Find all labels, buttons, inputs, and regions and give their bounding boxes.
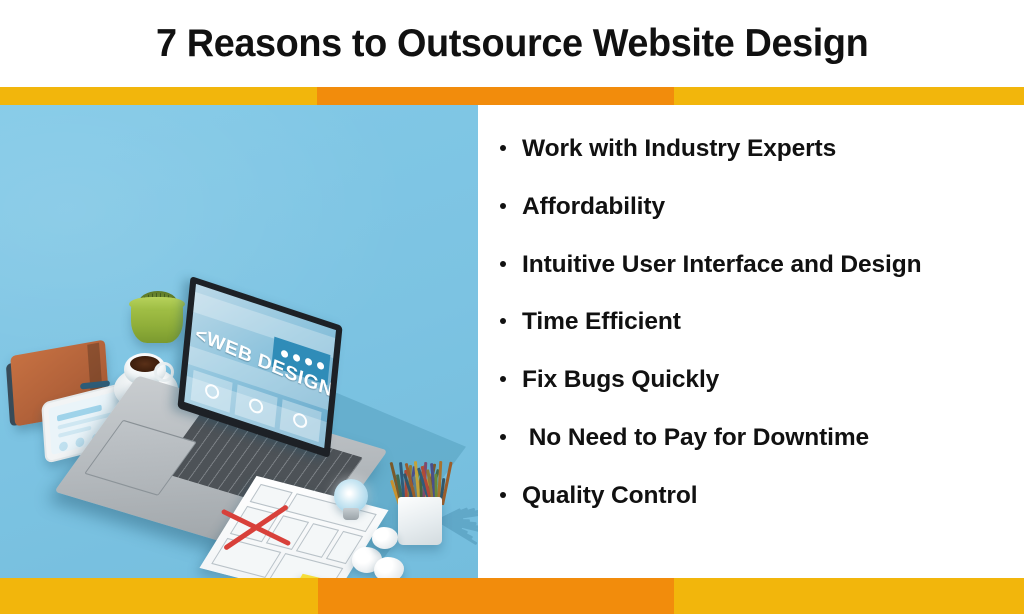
bullet-dot-icon — [500, 318, 506, 324]
bottom-rule-segment-orange-middle — [318, 578, 674, 614]
page-title: 7 Reasons to Outsource Website Design — [156, 24, 868, 63]
reasons-panel: Work with Industry Experts Affordability… — [478, 105, 1024, 578]
crumpled-paper-ball — [374, 557, 404, 578]
list-item-label: No Need to Pay for Downtime — [522, 426, 869, 451]
list-item[interactable]: No Need to Pay for Downtime — [500, 426, 1016, 484]
bullet-dot-icon — [500, 145, 506, 151]
list-item[interactable]: Work with Industry Experts — [500, 137, 1016, 195]
top-accent-rule — [0, 87, 1024, 105]
bullet-dot-icon — [500, 261, 506, 267]
list-item-label: Affordability — [522, 195, 665, 220]
list-item-label: Fix Bugs Quickly — [522, 368, 719, 393]
bottom-accent-rule — [0, 578, 1024, 614]
workspace-photo: <WEB DESIGN> — [0, 105, 478, 578]
list-item[interactable]: Quality Control — [500, 484, 1016, 542]
laptop-trackpad — [84, 420, 197, 496]
pencil-cup-icon — [398, 497, 442, 545]
bullet-dot-icon — [500, 492, 506, 498]
bottom-rule-segment-yellow-left — [0, 578, 318, 614]
list-item[interactable]: Affordability — [500, 195, 1016, 253]
bottom-rule-segment-yellow-right — [674, 578, 1024, 614]
list-item-label: Intuitive User Interface and Design — [522, 253, 922, 278]
slide-root: 7 Reasons to Outsource Website Design — [0, 0, 1024, 614]
list-item[interactable]: Time Efficient — [500, 310, 1016, 368]
list-item-label: Quality Control — [522, 484, 697, 509]
bullet-dot-icon — [500, 203, 506, 209]
list-item-label: Work with Industry Experts — [522, 137, 836, 162]
top-rule-segment-yellow-right — [674, 87, 1024, 105]
lightbulb-icon — [334, 479, 368, 513]
bullet-dot-icon — [500, 376, 506, 382]
list-item[interactable]: Intuitive User Interface and Design — [500, 253, 1016, 311]
top-rule-segment-orange-middle — [317, 87, 674, 105]
list-item-label: Time Efficient — [522, 310, 681, 335]
list-item[interactable]: Fix Bugs Quickly — [500, 368, 1016, 426]
bullet-dot-icon — [500, 434, 506, 440]
red-x-mark-icon — [218, 497, 292, 559]
reasons-list: Work with Industry Experts Affordability… — [500, 137, 1016, 542]
slide-title-bar: 7 Reasons to Outsource Website Design — [0, 0, 1024, 87]
top-rule-segment-yellow-left — [0, 87, 317, 105]
